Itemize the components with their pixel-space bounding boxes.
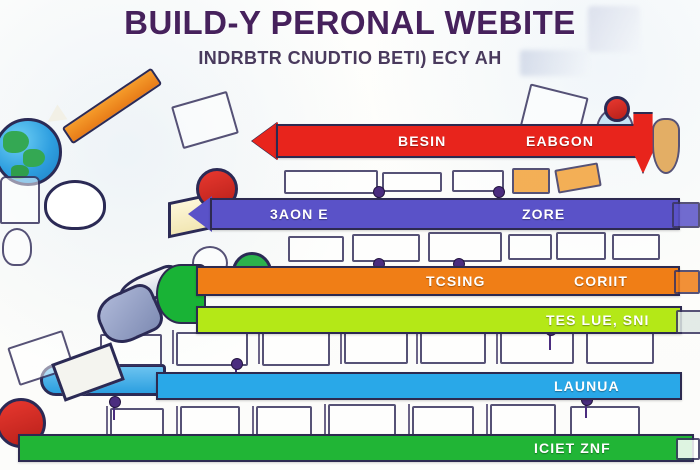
sketch-rect <box>352 234 420 262</box>
marker-dot <box>373 186 385 198</box>
bar-red-left-arrowhead <box>252 122 278 160</box>
marker-dot <box>231 358 243 370</box>
bar-purple-label-2: ZORE <box>522 206 565 222</box>
marker-dot <box>493 186 505 198</box>
sketch-divider <box>340 330 342 364</box>
bar-purple-left-arrowhead <box>188 196 212 232</box>
page-subtitle: INDRBTR CNUDTIO BETI) ECY AH <box>0 48 700 69</box>
sketch-rect <box>508 234 552 260</box>
bar-orange-label-2: CORIIT <box>574 273 628 289</box>
timeline-bar-red[interactable]: BESIN EABGON <box>276 124 646 158</box>
bar-orange-end-tag <box>674 270 700 294</box>
bar-lime-end-tag <box>676 310 700 334</box>
subtitle-smudge <box>520 50 590 76</box>
sketch-rect <box>382 172 442 192</box>
bar-purple-label-1: 3AON E <box>270 206 329 222</box>
brush-icon <box>652 118 680 174</box>
sketch-rect <box>288 236 344 262</box>
pin-head-icon <box>604 96 630 122</box>
sketch-rect <box>262 330 330 366</box>
sketch-divider <box>416 330 418 364</box>
bar-purple-end-tag <box>672 202 700 228</box>
bar-green-end-tag <box>676 438 700 460</box>
timeline-bar-orange[interactable]: TCSING CORIIT <box>196 266 680 296</box>
sketch-rect <box>586 330 654 364</box>
marker-dot <box>109 396 121 408</box>
sketch-divider <box>408 404 410 438</box>
timeline-bar-lime[interactable]: TES LUE, SNI <box>196 306 682 334</box>
sketch-rect <box>556 232 606 260</box>
sketch-rect <box>420 330 486 364</box>
bar-green-label-1: ICIET ZNF <box>534 440 611 456</box>
sketch-rect <box>612 234 660 260</box>
timeline-bar-green[interactable]: ICIET ZNF <box>18 434 694 462</box>
sketch-divider <box>258 330 260 364</box>
bar-orange-label-1: TCSING <box>426 273 486 289</box>
lightbulb-icon <box>2 228 32 266</box>
sketch-rect <box>284 170 378 194</box>
timeline-bar-purple[interactable]: 3AON E ZORE <box>210 198 680 230</box>
bar-blue-label-1: LAUNUA <box>554 378 620 394</box>
beaker-icon <box>0 176 40 224</box>
sketch-rect <box>344 332 408 364</box>
brain-icon <box>44 180 106 230</box>
poster-canvas: BUILD-Y PERONAL WEBITE INDRBTR CNUDTIO B… <box>0 0 700 470</box>
bar-red-label-2: EABGON <box>526 133 594 149</box>
bar-red-label-1: BESIN <box>398 133 446 149</box>
bar-lime-label-1: TES LUE, SNI <box>546 312 649 328</box>
sketch-rect <box>428 232 502 262</box>
sketch-divider <box>486 404 488 438</box>
sketch-tag <box>512 168 550 194</box>
sketch-divider <box>172 330 174 364</box>
timeline-bar-blue[interactable]: LAUNUA <box>156 372 682 400</box>
sketch-rect <box>490 404 556 438</box>
sketch-divider <box>324 404 326 438</box>
sketch-rect <box>328 404 396 438</box>
title-smudge <box>588 6 640 52</box>
